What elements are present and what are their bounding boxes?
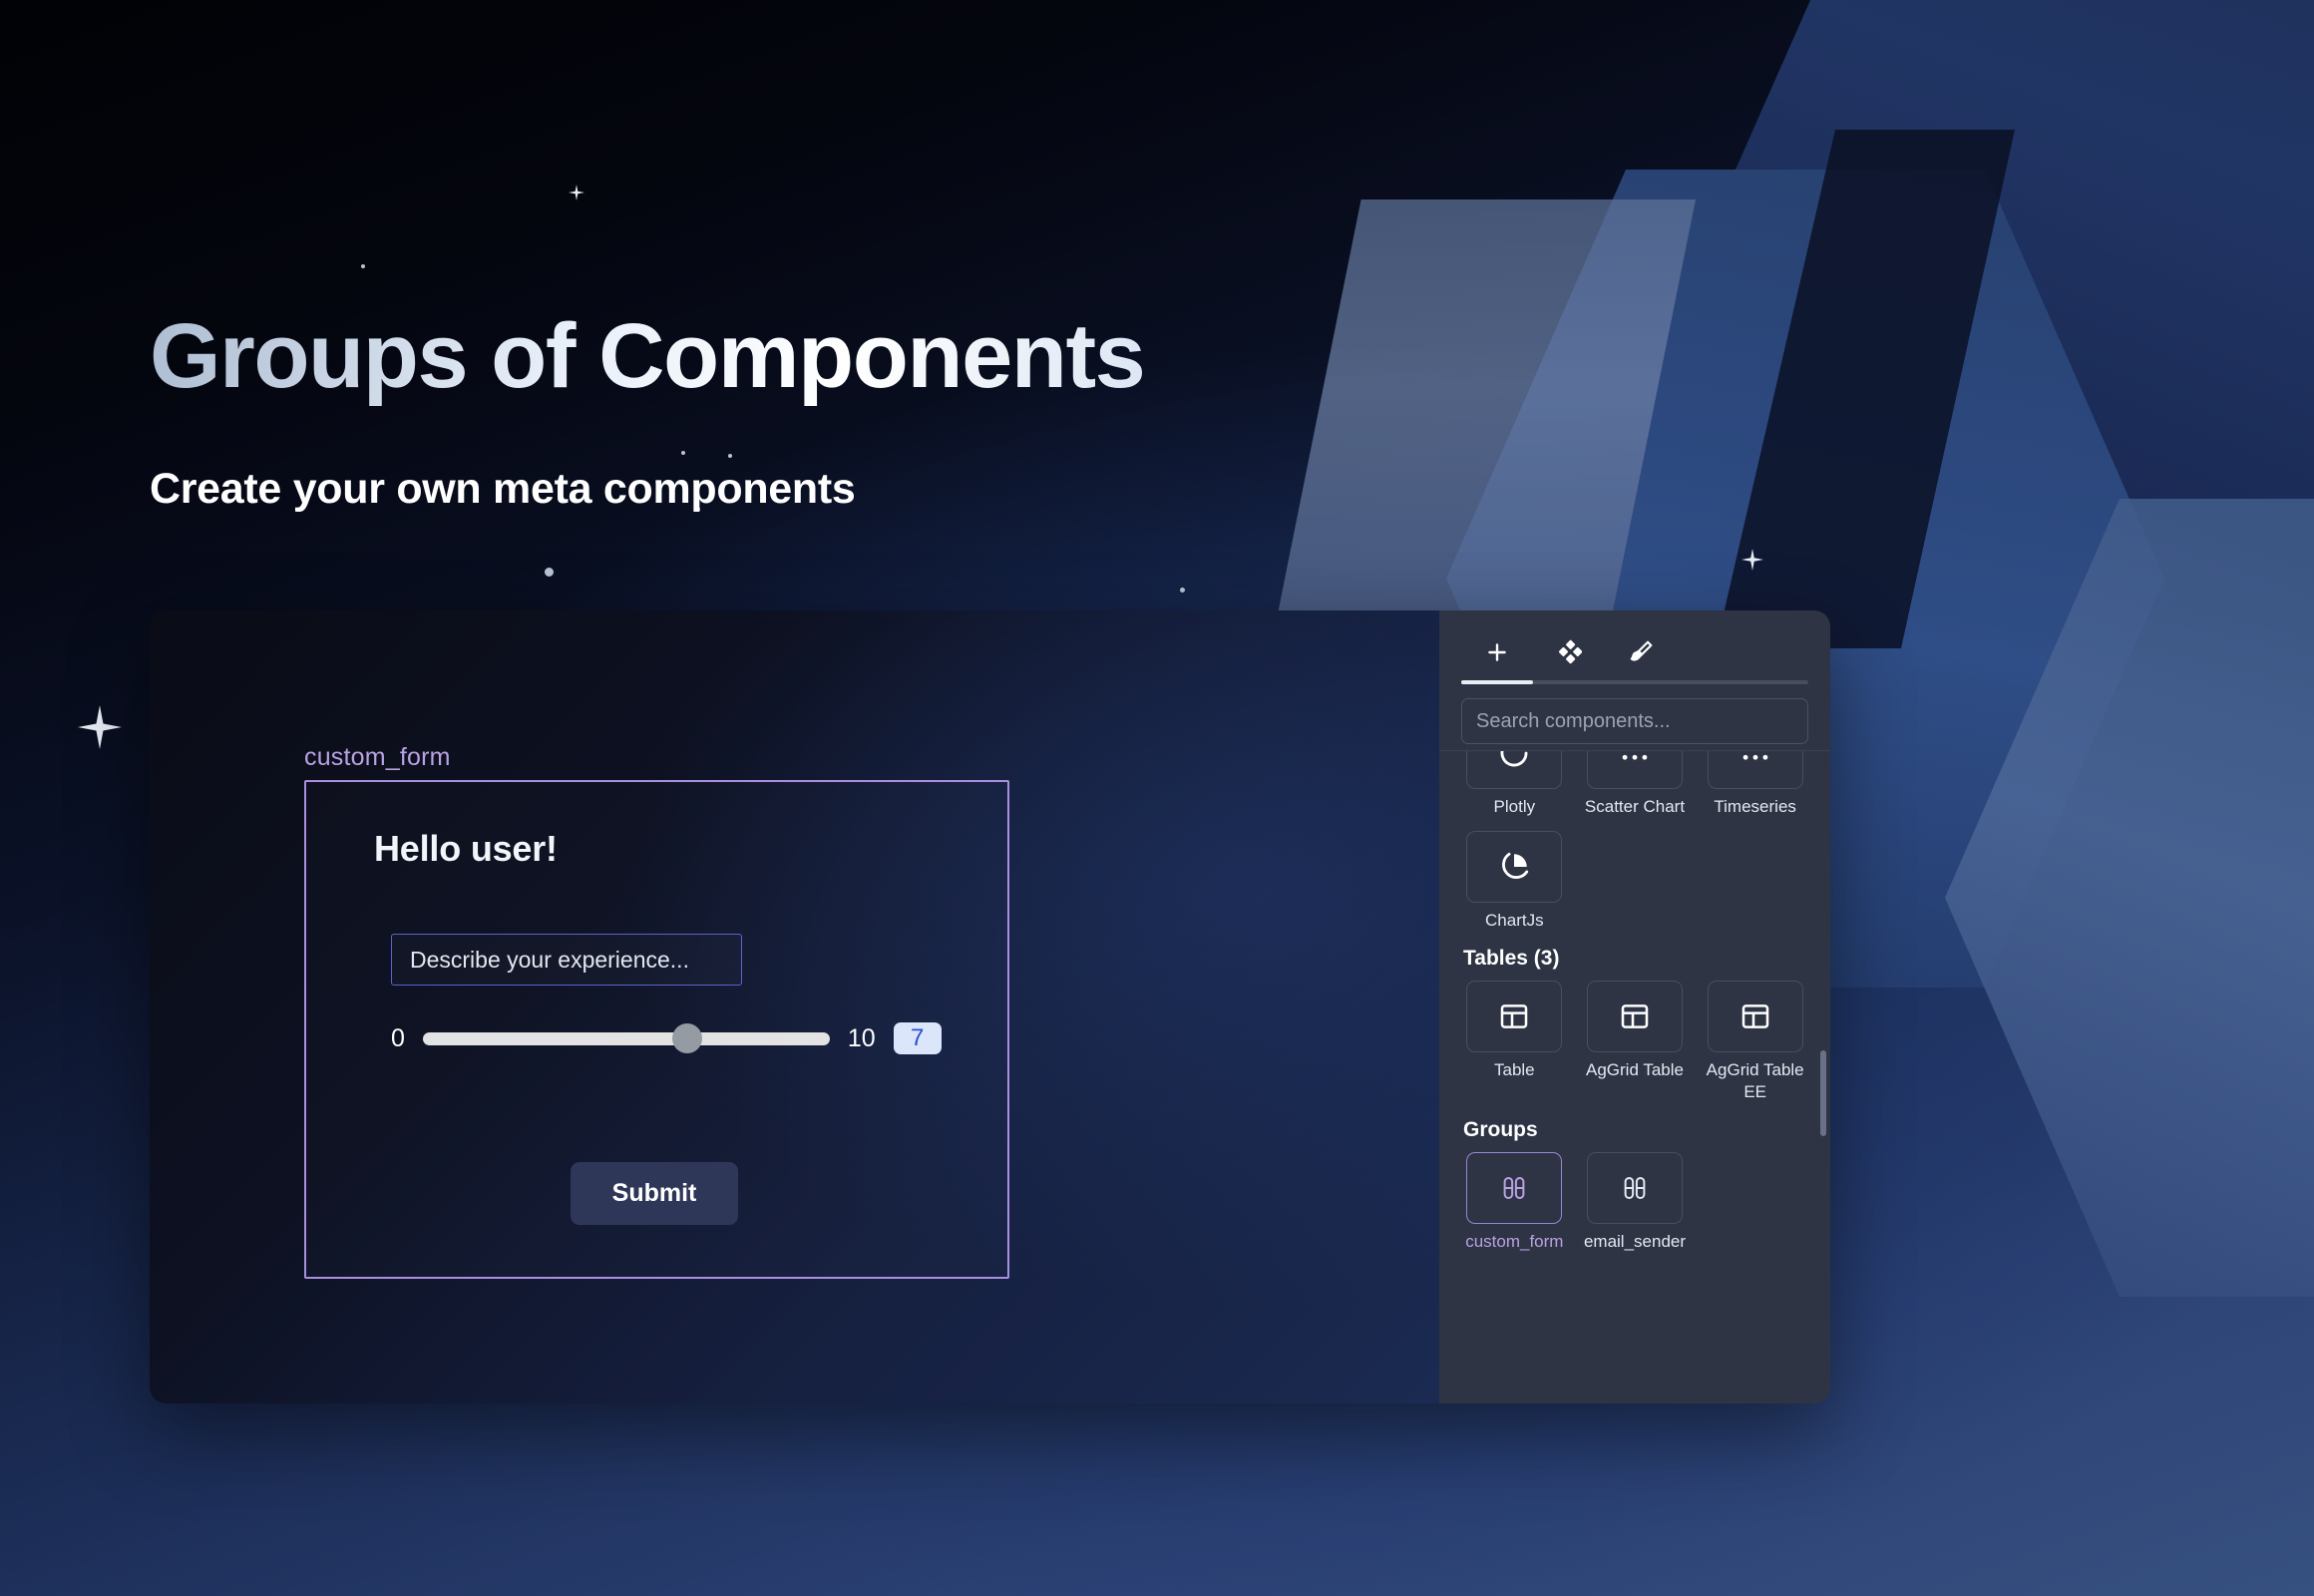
groups-grid: custom_form email_sender bbox=[1461, 1152, 1808, 1252]
slider-value-badge: 7 bbox=[894, 1022, 942, 1054]
slider-track bbox=[423, 1032, 830, 1045]
search-container bbox=[1439, 684, 1830, 750]
hexagon-decoration-a bbox=[1735, 0, 2314, 598]
component-tile-scatter-chart[interactable]: Scatter Chart bbox=[1582, 750, 1689, 817]
component-tile-label: AgGrid Table bbox=[1586, 1059, 1684, 1080]
donut-chart-icon bbox=[1466, 750, 1562, 789]
add-tab[interactable] bbox=[1461, 630, 1533, 674]
scatter-dots-icon bbox=[1587, 750, 1683, 789]
slider[interactable] bbox=[423, 1031, 830, 1045]
theme-tab[interactable] bbox=[1605, 630, 1677, 674]
panel-scrollbar[interactable] bbox=[1820, 1050, 1826, 1136]
pie-chart-icon bbox=[1466, 831, 1562, 903]
star-dot bbox=[728, 454, 732, 458]
component-tile-aggrid-table-ee[interactable]: AgGrid Table EE bbox=[1702, 981, 1808, 1102]
sparkle-icon bbox=[1741, 549, 1763, 571]
component-tile-timeseries[interactable]: Timeseries bbox=[1702, 750, 1808, 817]
panel-tab-bar bbox=[1439, 610, 1830, 676]
component-tile-table[interactable]: Table bbox=[1461, 981, 1568, 1102]
components-list[interactable]: Plotly Scatter Chart bbox=[1439, 750, 1830, 1403]
component-tile-label: custom_form bbox=[1465, 1231, 1563, 1252]
component-tile-chartjs[interactable]: ChartJs bbox=[1461, 831, 1568, 931]
tab-underline bbox=[1461, 680, 1808, 684]
tab-underline-active bbox=[1461, 680, 1533, 684]
diamonds-icon bbox=[1556, 639, 1582, 665]
component-tile-custom-form[interactable]: custom_form bbox=[1461, 1152, 1568, 1252]
component-tile-label: email_sender bbox=[1584, 1231, 1686, 1252]
component-tile-email-sender[interactable]: email_sender bbox=[1582, 1152, 1689, 1252]
component-tile-label: Scatter Chart bbox=[1585, 796, 1685, 817]
component-tile-label: Timeseries bbox=[1714, 796, 1796, 817]
group-icon bbox=[1466, 1152, 1562, 1224]
star-dot bbox=[1180, 588, 1185, 593]
table-icon bbox=[1466, 981, 1562, 1052]
groups-section-title: Groups bbox=[1463, 1118, 1808, 1142]
dark-wedge-decoration bbox=[1716, 130, 2015, 648]
timeseries-dots-icon bbox=[1708, 750, 1803, 789]
sparkle-icon bbox=[569, 185, 584, 200]
hexagon-decoration-c bbox=[1945, 499, 2314, 1297]
star-dot bbox=[545, 568, 554, 577]
group-icon bbox=[1587, 1152, 1683, 1224]
experience-input[interactable] bbox=[391, 934, 742, 986]
component-tile-label: Table bbox=[1494, 1059, 1535, 1080]
components-tab[interactable] bbox=[1533, 630, 1605, 674]
slider-max-label: 10 bbox=[848, 1024, 876, 1053]
component-tile-label: Plotly bbox=[1494, 796, 1536, 817]
slider-thumb[interactable] bbox=[672, 1023, 702, 1053]
slider-row: 0 10 7 bbox=[391, 1022, 942, 1054]
star-dot bbox=[681, 451, 685, 455]
plus-icon bbox=[1484, 639, 1510, 665]
slider-min-label: 0 bbox=[391, 1024, 405, 1053]
component-tile-label: AgGrid Table EE bbox=[1702, 1059, 1808, 1102]
table-icon bbox=[1587, 981, 1683, 1052]
form-heading: Hello user! bbox=[374, 828, 558, 870]
tables-section-title: Tables (3) bbox=[1463, 947, 1808, 971]
paintbrush-icon bbox=[1628, 639, 1654, 665]
submit-button[interactable]: Submit bbox=[571, 1162, 738, 1225]
component-tile-label: ChartJs bbox=[1485, 910, 1544, 931]
charts-row-second: ChartJs bbox=[1461, 831, 1808, 931]
group-name-label: custom_form bbox=[304, 743, 451, 772]
search-input[interactable] bbox=[1461, 698, 1808, 744]
components-panel: Plotly Scatter Chart bbox=[1439, 610, 1830, 1403]
component-tile-plotly[interactable]: Plotly bbox=[1461, 750, 1568, 817]
parallelogram-decoration-a bbox=[1267, 199, 1696, 668]
page-root: Groups of Components Create your own met… bbox=[0, 0, 2314, 1596]
star-dot bbox=[361, 264, 365, 268]
sparkle-icon bbox=[78, 705, 122, 749]
page-subtitle: Create your own meta components bbox=[150, 465, 856, 514]
component-tile-aggrid-table[interactable]: AgGrid Table bbox=[1582, 981, 1689, 1102]
table-icon bbox=[1708, 981, 1803, 1052]
tables-grid: Table AgGrid Table bbox=[1461, 981, 1808, 1102]
charts-row-partial: Plotly Scatter Chart bbox=[1461, 750, 1808, 823]
page-title: Groups of Components bbox=[150, 304, 1144, 409]
